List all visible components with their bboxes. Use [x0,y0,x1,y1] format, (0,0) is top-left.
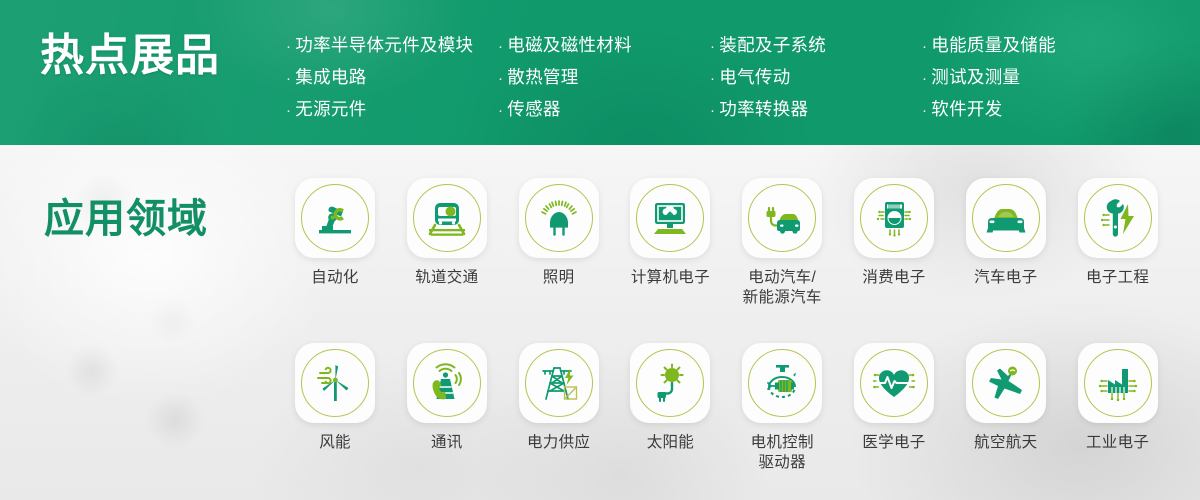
application-item[interactable]: 电子工程 [1078,178,1158,338]
bullet-icon: · [922,102,927,119]
application-label-line1: 汽车电子 [974,269,1037,286]
icon-tile[interactable] [742,343,822,423]
icon-tile[interactable] [295,178,375,258]
application-label-line1: 通讯 [431,434,463,451]
banner-item-label: 集成电路 [295,67,366,87]
application-item[interactable]: 电力供应 [519,343,599,500]
application-label: 电子工程 [1058,268,1178,288]
application-label-line1: 电力供应 [527,434,590,451]
icon-ring [301,184,369,252]
banner-item-label: 装配及子系统 [719,35,826,55]
application-item[interactable]: 汽车电子 [966,178,1046,338]
application-item[interactable]: 电动汽车/ 新能源汽车 [742,178,822,338]
banner-item: ·软件开发 [922,94,1056,126]
banner-item-label: 电磁及磁性材料 [507,35,632,55]
application-label: 医学电子 [834,433,954,453]
icon-ring [301,349,369,417]
application-item[interactable]: 计算机电子 [630,178,710,338]
bullet-icon: · [710,38,715,55]
icon-tile[interactable] [407,343,487,423]
banner-item: ·功率半导体元件及模块 [286,30,498,62]
application-label: 照明 [499,268,619,288]
banner-item-label: 功率转换器 [719,99,808,119]
banner-item: ·电气传动 [710,62,922,94]
bullet-icon: · [286,38,291,55]
application-label-line1: 消费电子 [862,269,925,286]
icon-tile[interactable] [407,178,487,258]
application-label-line1: 电机控制 [751,434,814,451]
bullet-icon: · [922,38,927,55]
application-label-line1: 太阳能 [647,434,694,451]
application-label: 轨道交通 [387,268,507,288]
application-label-line1: 轨道交通 [415,269,478,286]
application-item[interactable]: 轨道交通 [407,178,487,338]
icon-ring [636,349,704,417]
icon-tile[interactable] [519,343,599,423]
icon-tile[interactable] [519,178,599,258]
icon-ring [748,349,816,417]
banner-item: ·散热管理 [498,62,710,94]
bullet-icon: · [710,102,715,119]
banner-item-label: 软件开发 [931,99,1002,119]
icon-tile[interactable] [1078,178,1158,258]
application-label-line1: 航空航天 [974,434,1037,451]
banner-item: ·集成电路 [286,62,498,94]
application-label: 风能 [275,433,395,453]
banner-column-3: ·装配及子系统 ·电气传动 ·功率转换器 [710,30,922,126]
application-label: 航空航天 [946,433,1066,453]
banner-category-columns: ·功率半导体元件及模块 ·集成电路 ·无源元件 ·电磁及磁性材料 ·散热管理 ·… [286,30,1056,126]
application-label-line1: 医学电子 [862,434,925,451]
application-label: 太阳能 [610,433,730,453]
application-item[interactable]: 风能 [295,343,375,500]
application-item[interactable]: 电机控制 驱动器 [742,343,822,500]
bullet-icon: · [498,102,503,119]
icon-ring [748,184,816,252]
banner-item: ·传感器 [498,94,710,126]
application-item[interactable]: 太阳能 [630,343,710,500]
icon-ring [1084,184,1152,252]
wrench-bolt-icon [1096,196,1140,240]
banner-title: 热点展品 [40,34,220,78]
led-lamp-icon [537,196,581,240]
banner-item-label: 电能质量及储能 [931,35,1056,55]
banner-item-label: 传感器 [507,99,560,119]
icon-ring [525,184,593,252]
icon-tile[interactable] [854,343,934,423]
icon-tile[interactable] [295,343,375,423]
application-label: 工业电子 [1058,433,1178,453]
application-label-line1: 电子工程 [1086,269,1149,286]
application-item[interactable]: 照明 [519,178,599,338]
banner-column-4: ·电能质量及储能 ·测试及测量 ·软件开发 [922,30,1056,126]
banner-item: ·功率转换器 [710,94,922,126]
factory-circuit-icon [1096,361,1140,405]
icon-ring [860,349,928,417]
banner-item: ·电磁及磁性材料 [498,30,710,62]
ev-charging-car-icon [760,196,804,240]
banner-item-label: 功率半导体元件及模块 [295,35,473,55]
power-pylon-icon [537,361,581,405]
bullet-icon: · [498,38,503,55]
application-label: 电力供应 [499,433,619,453]
bullet-icon: · [286,102,291,119]
banner-item-label: 电气传动 [719,67,790,87]
icon-ring [972,349,1040,417]
application-label: 电机控制 驱动器 [722,433,842,473]
wind-turbine-icon [313,361,357,405]
application-item[interactable]: 医学电子 [854,343,934,500]
icon-tile[interactable] [966,178,1046,258]
banner-column-2: ·电磁及磁性材料 ·散热管理 ·传感器 [498,30,710,126]
banner-item: ·装配及子系统 [710,30,922,62]
icon-tile[interactable] [742,178,822,258]
airplane-icon [984,361,1028,405]
hot-exhibits-banner: 热点展品 ·功率半导体元件及模块 ·集成电路 ·无源元件 ·电磁及磁性材料 ·散… [0,0,1200,145]
application-label-line1: 电动汽车/ [748,269,816,286]
icon-ring [1084,349,1152,417]
banner-item: ·电能质量及储能 [922,30,1056,62]
application-label-line1: 照明 [543,269,575,286]
application-item[interactable]: 通讯 [407,343,487,500]
icon-ring [413,184,481,252]
icon-ring [525,349,593,417]
icon-ring [860,184,928,252]
application-label-line1: 风能 [319,434,351,451]
bullet-icon: · [286,70,291,87]
icon-tile[interactable] [630,343,710,423]
application-label-line2: 新能源汽车 [722,288,842,308]
application-label-line1: 计算机电子 [631,269,710,286]
computer-cloud-icon [648,196,692,240]
application-areas-section: 应用领域 [0,145,1200,500]
icon-ring [636,184,704,252]
section-title: 应用领域 [44,199,208,239]
application-label: 通讯 [387,433,507,453]
icon-ring [413,349,481,417]
icon-tile[interactable] [630,178,710,258]
application-item[interactable]: 工业电子 [1078,343,1158,500]
banner-item-label: 无源元件 [295,99,366,119]
bullet-icon: · [498,70,503,87]
application-icon-grid: 自动化 [295,178,1158,500]
application-label: 消费电子 [834,268,954,288]
application-item[interactable]: 消费电子 [854,178,934,338]
application-item[interactable]: 自动化 [295,178,375,338]
application-label-line1: 自动化 [311,269,358,286]
application-label: 计算机电子 [610,268,730,288]
car-icon [984,196,1028,240]
banner-item-label: 测试及测量 [931,67,1020,87]
icon-tile[interactable] [854,178,934,258]
heart-circuit-icon [872,361,916,405]
banner-item: ·测试及测量 [922,62,1056,94]
application-label: 电动汽车/ 新能源汽车 [722,268,842,308]
icon-tile[interactable] [966,343,1046,423]
bullet-icon: · [710,70,715,87]
promo-banner-page: 热点展品 ·功率半导体元件及模块 ·集成电路 ·无源元件 ·电磁及磁性材料 ·散… [0,0,1200,500]
application-label: 自动化 [275,268,395,288]
application-label-line2: 驱动器 [722,453,842,473]
bullet-icon: · [922,70,927,87]
motor-drive-icon [760,361,804,405]
robot-arm-icon [313,196,357,240]
train-icon [425,196,469,240]
antenna-phone-icon [425,361,469,405]
sun-plug-icon [648,361,692,405]
banner-item-label: 散热管理 [507,67,578,87]
icon-ring [972,184,1040,252]
banner-item: ·无源元件 [286,94,498,126]
banner-column-1: ·功率半导体元件及模块 ·集成电路 ·无源元件 [286,30,498,126]
application-label: 汽车电子 [946,268,1066,288]
washing-machine-icon [872,196,916,240]
icon-tile[interactable] [1078,343,1158,423]
application-label-line1: 工业电子 [1086,434,1149,451]
application-item[interactable]: 航空航天 [966,343,1046,500]
